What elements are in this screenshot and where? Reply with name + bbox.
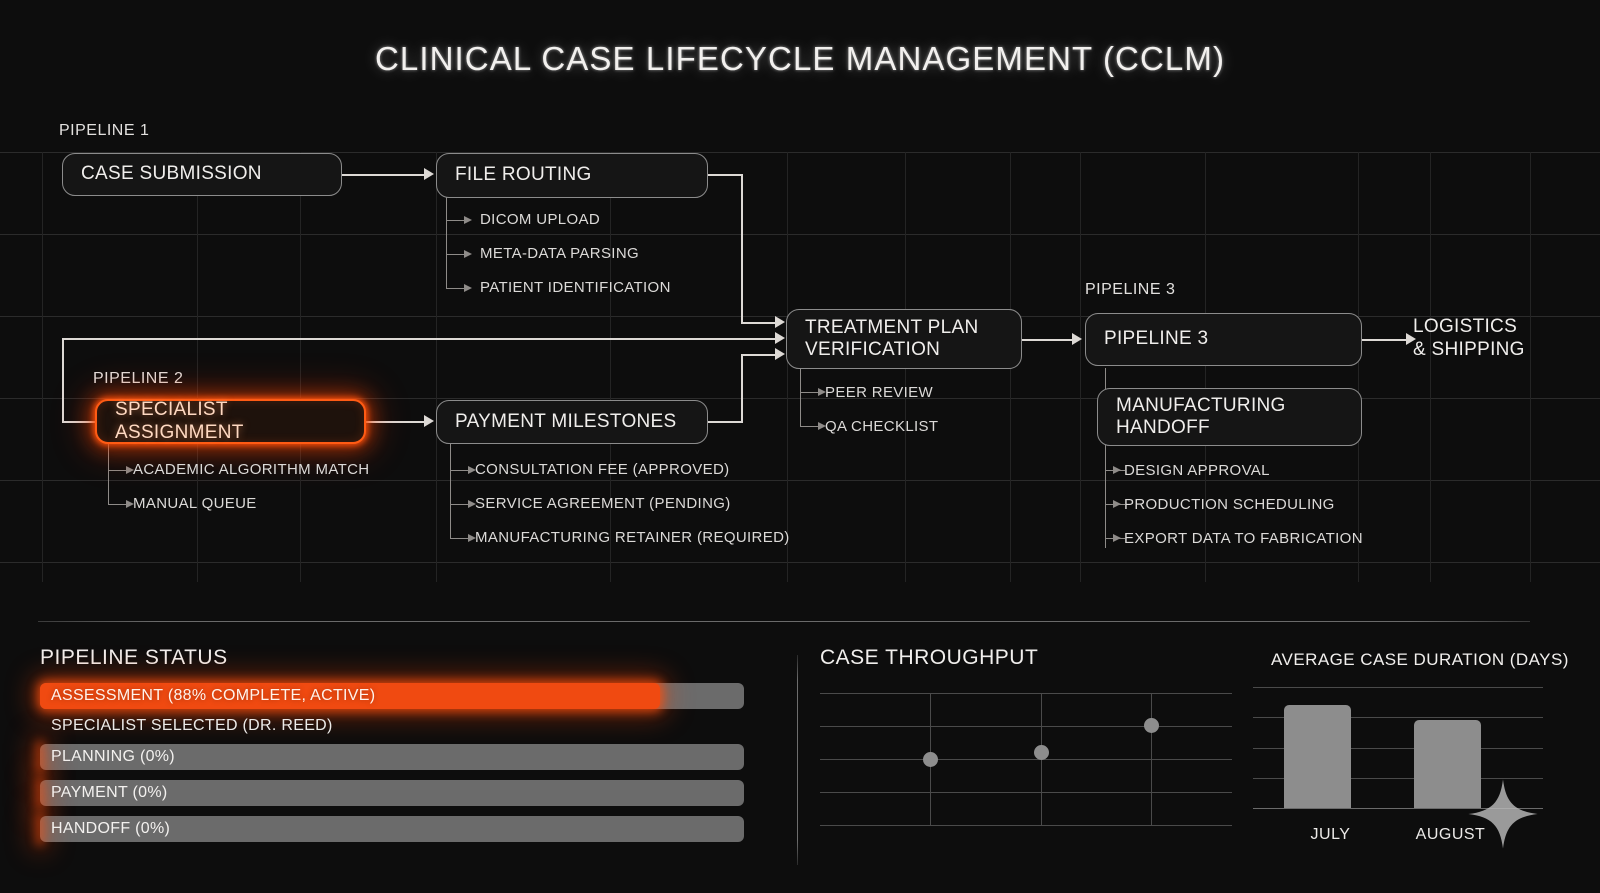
substep-patient-identification: PATIENT IDENTIFICATION xyxy=(480,279,671,296)
bracket-file-routing-substeps xyxy=(446,193,447,288)
connector-routing-out xyxy=(707,174,743,176)
throughput-data-point xyxy=(1034,745,1049,760)
node-payment-milestones[interactable]: PAYMENT MILESTONES xyxy=(436,400,708,444)
status-row-handoff[interactable]: HANDOFF (0%) xyxy=(40,816,744,842)
status-label-specialist-selected: SPECIALIST SELECTED (DR. REED) xyxy=(51,717,333,735)
node-file-routing[interactable]: FILE ROUTING xyxy=(436,153,708,198)
bracket-payment-substeps xyxy=(450,443,451,538)
substep-consultation-fee: CONSULTATION FEE (APPROVED) xyxy=(475,461,729,478)
status-row-assessment[interactable]: ASSESSMENT (88% COMPLETE, ACTIVE) xyxy=(40,683,744,709)
group-label-pipeline-1: PIPELINE 1 xyxy=(59,122,149,140)
status-label-planning: PLANNING (0%) xyxy=(51,744,175,770)
substep-peer-review: PEER REVIEW xyxy=(825,384,933,401)
arrowhead-treatment-to-pipeline3 xyxy=(1072,333,1082,345)
case-throughput-chart[interactable] xyxy=(820,693,1232,826)
node-treatment-plan-verification[interactable]: TREATMENT PLAN VERIFICATION xyxy=(786,309,1022,369)
node-specialist-assignment[interactable]: SPECIALIST ASSIGNMENT xyxy=(95,399,366,444)
page-title: CLINICAL CASE LIFECYCLE MANAGEMENT (CCLM… xyxy=(0,40,1600,78)
connector-payment-out xyxy=(707,421,743,423)
throughput-data-point xyxy=(923,752,938,767)
pipeline-status-title: PIPELINE STATUS xyxy=(40,646,228,670)
node-manufacturing-handoff[interactable]: MANUFACTURING HANDOFF xyxy=(1097,388,1362,446)
bracket-specialist-substeps xyxy=(108,443,109,504)
connector-routing-to-treatment xyxy=(741,322,777,324)
status-label-assessment: ASSESSMENT (88% COMPLETE, ACTIVE) xyxy=(51,683,375,709)
substep-dicom-upload: DICOM UPLOAD xyxy=(480,211,600,228)
arrowhead-routing-to-treatment xyxy=(775,316,785,328)
substep-export-data-to-fabrication: EXPORT DATA TO FABRICATION xyxy=(1124,530,1363,547)
connector-specialist-to-payment xyxy=(366,421,426,423)
node-pipeline-3[interactable]: PIPELINE 3 xyxy=(1085,313,1362,366)
status-row-payment[interactable]: PAYMENT (0%) xyxy=(40,780,744,806)
arrowhead-bus-to-treatment xyxy=(775,332,785,344)
throughput-gridline-h xyxy=(820,825,1232,826)
duration-gridline-h xyxy=(1253,687,1543,688)
status-label-payment: PAYMENT (0%) xyxy=(51,780,168,806)
throughput-gridline-h xyxy=(820,693,1232,694)
average-case-duration-title: AVERAGE CASE DURATION (DAYS) xyxy=(1271,650,1569,670)
throughput-gridline-h xyxy=(820,759,1232,760)
substep-academic-algorithm-match: ACADEMIC ALGORITHM MATCH xyxy=(133,461,369,478)
throughput-gridline-v xyxy=(1151,693,1152,826)
status-row-planning[interactable]: PLANNING (0%) xyxy=(40,744,744,770)
section-divider xyxy=(38,621,1530,622)
connector-pipeline3-to-logistics xyxy=(1362,339,1408,341)
substep-qa-checklist: QA CHECKLIST xyxy=(825,418,938,435)
connector-treatment-to-pipeline3 xyxy=(1022,339,1074,341)
connector-submission-to-routing xyxy=(342,174,426,176)
bracket-treatment-substeps xyxy=(800,365,801,426)
status-row-specialist-selected: SPECIALIST SELECTED (DR. REED) xyxy=(51,714,333,738)
substep-meta-data-parsing: META-DATA PARSING xyxy=(480,245,639,262)
substep-service-agreement: SERVICE AGREEMENT (PENDING) xyxy=(475,495,731,512)
group-label-pipeline-2: PIPELINE 2 xyxy=(93,370,183,388)
arrowhead-submission-to-routing xyxy=(424,168,434,180)
substep-production-scheduling: PRODUCTION SCHEDULING xyxy=(1124,496,1335,513)
throughput-gridline-h xyxy=(820,792,1232,793)
connector-payment-up xyxy=(741,354,743,421)
group-label-pipeline-3: PIPELINE 3 xyxy=(1085,281,1175,299)
sparkle-icon xyxy=(1467,778,1539,850)
throughput-data-point xyxy=(1144,718,1159,733)
connector-bus-horizontal xyxy=(62,338,777,340)
duration-bar-july xyxy=(1284,705,1351,808)
connector-routing-down xyxy=(741,174,743,322)
arrowhead-specialist-to-payment xyxy=(424,415,434,427)
connector-bus-to-specialist xyxy=(62,421,98,423)
node-case-submission[interactable]: CASE SUBMISSION xyxy=(62,153,342,196)
case-throughput-title: CASE THROUGHPUT xyxy=(820,646,1038,670)
node-logistics-shipping: LOGISTICS & SHIPPING xyxy=(1413,315,1593,361)
status-label-handoff: HANDOFF (0%) xyxy=(51,816,170,842)
panel-divider xyxy=(797,655,798,865)
throughput-gridline-h xyxy=(820,726,1232,727)
connector-payment-to-treatment xyxy=(741,354,777,356)
connector-bus-down-left xyxy=(62,338,64,422)
substep-manufacturing-retainer: MANUFACTURING RETAINER (REQUIRED) xyxy=(475,529,790,546)
substep-manual-queue: MANUAL QUEUE xyxy=(133,495,257,512)
arrowhead-payment-to-treatment xyxy=(775,348,785,360)
substep-design-approval: DESIGN APPROVAL xyxy=(1124,462,1270,479)
